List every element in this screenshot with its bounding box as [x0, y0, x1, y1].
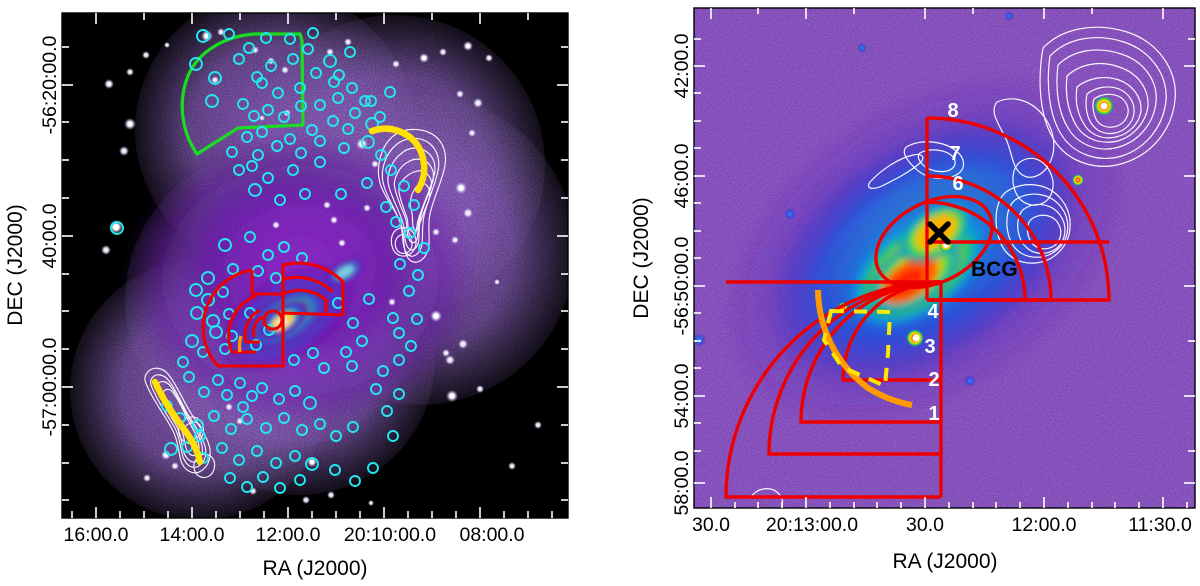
- right-xtick-2: 30.0: [906, 514, 944, 536]
- left-xtick-4: 08:00.0: [459, 524, 524, 546]
- left-xaxis-title: RA (J2000): [262, 557, 367, 580]
- figure-root: 16:00.0 14:00.0 12:00.0 20:10:00.0 08:00…: [0, 0, 1200, 586]
- left-ytick-1: 40:00.0: [39, 203, 61, 268]
- right-ytick-2: -56:50:00.0: [671, 237, 693, 336]
- sector-label-7: 7: [949, 143, 960, 165]
- sector-label-4: 4: [927, 301, 939, 323]
- sector-label-1: 1: [928, 403, 939, 425]
- left-xtick-2: 12:00.0: [255, 524, 320, 546]
- left-ytick-2: -57:00:00.0: [39, 338, 61, 437]
- orange-cold-front-arc-left: [240, 336, 241, 352]
- left-xtick-1: 14:00.0: [159, 524, 224, 546]
- sector-label-8: 8: [947, 100, 958, 122]
- right-yaxis-title: DEC (J2000): [630, 197, 653, 318]
- left-ytick-0: -56:20:00.0: [39, 36, 61, 135]
- sector-label-2: 2: [928, 369, 939, 391]
- bcg-label: BCG: [971, 258, 1018, 281]
- sector-label-3: 3: [924, 336, 935, 358]
- left-xtick-0: 16:00.0: [63, 524, 128, 546]
- right-ytick-1: 46:00.0: [671, 143, 693, 208]
- right-xtick-1: 20:13:00.0: [766, 514, 858, 536]
- right-ytick-0: 42:00.0: [671, 33, 693, 98]
- left-panel-svg: 16:00.0 14:00.0 12:00.0 20:10:00.0 08:00…: [0, 0, 600, 586]
- right-xtick-4: 11:30.0: [1128, 514, 1192, 536]
- right-ytick-4: 58:00.0: [671, 450, 693, 515]
- right-xaxis-title: RA (J2000): [892, 550, 997, 573]
- right-xtick-3: 12:00.0: [1011, 514, 1076, 536]
- left-xtick-3: 20:10:00.0: [344, 524, 436, 546]
- right-ytick-3: 54:00.0: [671, 363, 693, 428]
- right-panel-svg: 1 2 3 4 6 7 8 BCG: [600, 0, 1200, 586]
- right-panel: 1 2 3 4 6 7 8 BCG: [600, 0, 1200, 586]
- left-panel: 16:00.0 14:00.0 12:00.0 20:10:00.0 08:00…: [0, 0, 600, 586]
- sector-label-6: 6: [952, 173, 963, 195]
- left-yaxis-title: DEC (J2000): [4, 204, 27, 325]
- right-sky-image: 1 2 3 4 6 7 8 BCG: [651, 0, 1200, 513]
- right-xtick-0: 30.0: [692, 514, 730, 536]
